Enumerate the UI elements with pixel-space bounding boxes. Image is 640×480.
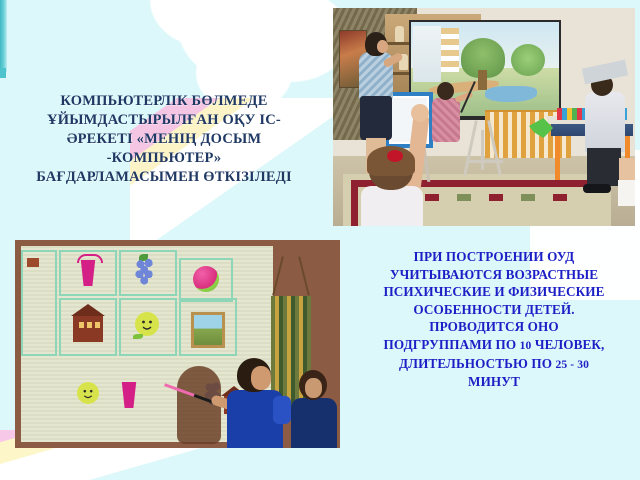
photo-standing-child-sock <box>618 180 635 206</box>
photo-tripod-leg <box>481 130 484 170</box>
photo-rug-motif <box>425 194 439 201</box>
framed-picture-scene <box>194 315 222 345</box>
photo-rug-motif <box>489 194 503 201</box>
russian-line-8: МИНУТ <box>352 373 636 391</box>
photo-table-leg <box>555 134 560 180</box>
framed-picture-house <box>27 258 39 267</box>
russian-line-4: ОСОБЕННОСТИ ДЕТЕЙ. <box>352 301 636 319</box>
house-icon <box>73 316 103 342</box>
photo-teacher-skirt <box>360 96 392 140</box>
photo-tripod-brace <box>467 160 503 163</box>
photo-foreground-child-body <box>361 186 423 226</box>
russian-line-7: ДЛИТЕЛЬНОСТЬЮ ПО 25 - 30 <box>352 355 636 374</box>
photo-screen-thumbnails <box>441 28 459 72</box>
kazakh-line-2: ҰЙЫМДАСТЫРЫЛҒАН ОҚУ ІС- <box>16 111 312 130</box>
ball-icon <box>193 266 219 292</box>
house-window <box>79 322 84 328</box>
photo-screen-sidebar <box>413 26 441 82</box>
photo-rug-border <box>351 180 358 226</box>
house-icon <box>71 304 105 316</box>
board-activity-photo <box>15 240 340 448</box>
photo-tripod-stand <box>459 120 511 178</box>
sun-face-icon <box>135 312 159 336</box>
grapes-icon <box>135 258 157 286</box>
russian-line-1: ПРИ ПОСТРОЕНИИ ОУД <box>352 248 636 266</box>
photo-woman-body <box>291 398 337 448</box>
photo-rug-motif <box>553 194 567 201</box>
kazakh-line-1: КОМПЬЮТЕРЛІК БӨЛМЕДЕ <box>16 92 312 111</box>
photo-child-at-screen-head <box>437 82 454 100</box>
photo-teacher-face <box>377 40 388 53</box>
photo-screen-water <box>485 86 537 102</box>
russian-line-5: ПРОВОДИТСЯ ОНО <box>352 318 636 336</box>
kazakh-line-3: ӘРЕКЕТІ «МЕНІҢ ДОСЫМ <box>16 130 312 149</box>
photo-seated-adult-body <box>585 92 625 152</box>
classroom-photo <box>333 8 635 226</box>
photo-screen-tree-trunk <box>478 70 487 90</box>
sun-face-icon <box>77 382 99 404</box>
house-window <box>95 322 100 328</box>
photo-shelf-toy <box>395 26 404 42</box>
kazakh-line-5: БАҒДАРЛАМАСЫМЕН ӨТКІЗІЛЕДІ <box>16 168 312 187</box>
photo-child-at-screen-body <box>432 98 460 142</box>
photo-woman-face <box>305 378 322 398</box>
kazakh-line-4: -КОМПЬЮТЕР» <box>16 149 312 168</box>
photo-rug-motif <box>521 194 535 201</box>
photo-seated-adult-shoe <box>583 184 611 193</box>
russian-line-6: ПОДГРУППАМИ ПО 10 ЧЕЛОВЕК, <box>352 336 636 355</box>
teal-accent-bar-segment <box>0 68 6 78</box>
framed-picture-icon <box>191 312 225 348</box>
sun-leaf-icon <box>133 334 143 339</box>
photo-foreground-child-hand <box>411 104 429 122</box>
photo-tripod-leg <box>463 120 478 175</box>
russian-line-2: УЧИТЫВАЮТСЯ ВОЗРАСТНЫЕ <box>352 266 636 284</box>
photo-boy-face <box>251 366 271 390</box>
russian-body-text: ПРИ ПОСТРОЕНИИ ОУД УЧИТЫВАЮТСЯ ВОЗРАСТНЫ… <box>352 248 636 391</box>
russian-line-3: ПСИХИЧЕСКИЕ И ФИЗИЧЕСКИЕ <box>352 283 636 301</box>
teal-accent-bar <box>0 0 7 72</box>
presentation-slide: КОМПЬЮТЕРЛІК БӨЛМЕДЕ ҰЙЫМДАСТЫРЫЛҒАН ОҚУ… <box>0 0 640 480</box>
photo-tripod-leg <box>487 120 502 175</box>
kazakh-title-text: КОМПЬЮТЕРЛІК БӨЛМЕДЕ ҰЙЫМДАСТЫРЫЛҒАН ОҚУ… <box>16 92 312 187</box>
photo-seated-adult-legs <box>587 148 621 186</box>
photo-boy-sleeve <box>273 396 291 424</box>
photo-screen-tree <box>511 44 545 76</box>
house-window <box>87 322 92 328</box>
photo-foreground-child-hair-bow <box>387 150 403 162</box>
photo-rug-motif <box>457 194 471 201</box>
